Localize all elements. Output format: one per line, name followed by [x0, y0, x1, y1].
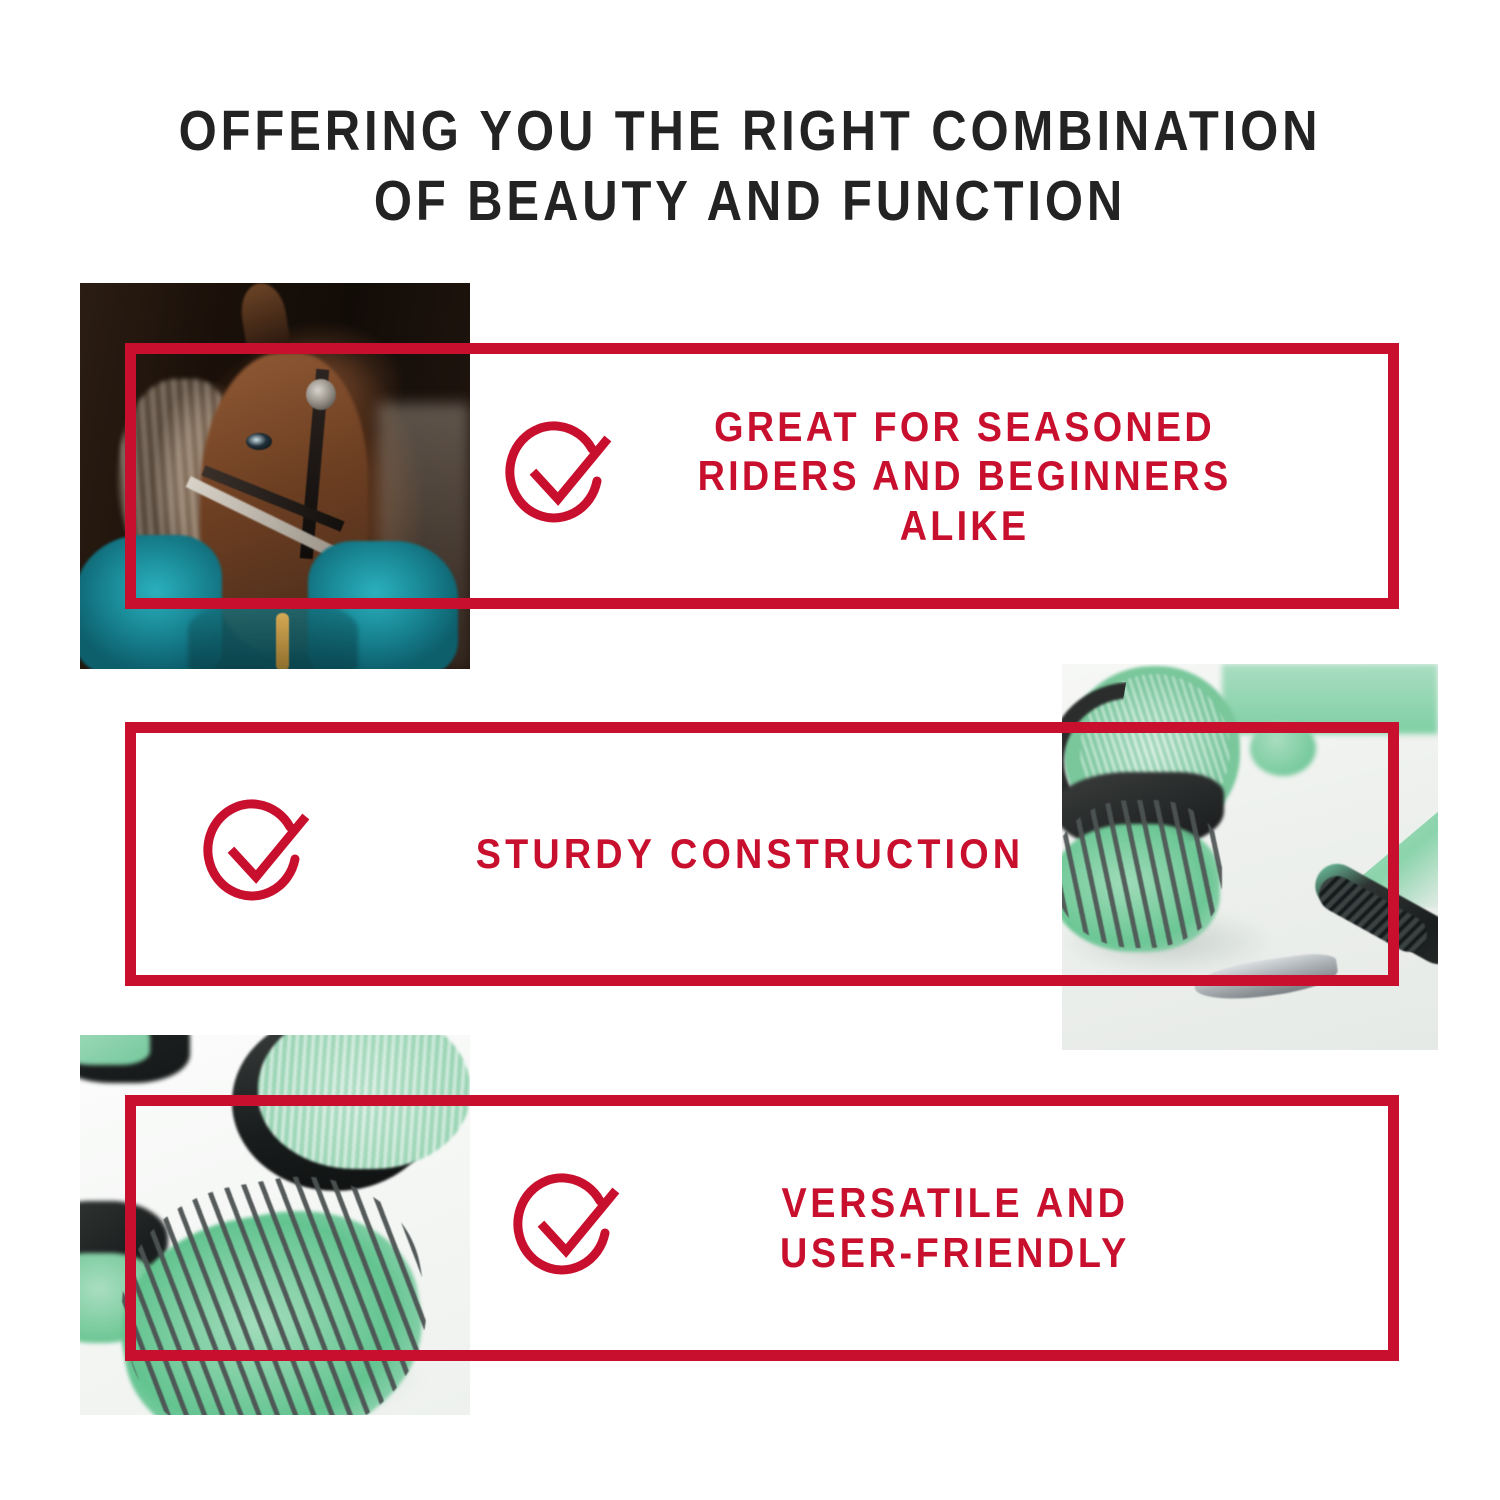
- horse-ear: [237, 283, 291, 352]
- headline-line-2: OF BEAUTY AND FUNCTION: [105, 166, 1395, 236]
- feature-3-text: VERSATILE AND USER-FRIENDLY: [626, 1178, 1380, 1277]
- feature-3-line-1: VERSATILE AND: [659, 1178, 1251, 1228]
- headline-line-1: OFFERING YOU THE RIGHT COMBINATION: [105, 96, 1395, 166]
- feature-row-3: VERSATILE AND USER-FRIENDLY: [490, 1095, 1380, 1361]
- feature-3-line-2: USER-FRIENDLY: [659, 1228, 1251, 1278]
- check-circle-icon: [500, 415, 618, 538]
- feature-2-text: STURDY CONSTRUCTION: [316, 829, 1380, 879]
- feature-1-line-2: RIDERS AND BEGINNERS: [653, 451, 1277, 501]
- feature-1-text: GREAT FOR SEASONED RIDERS AND BEGINNERS …: [618, 402, 1385, 551]
- feature-row-1: GREAT FOR SEASONED RIDERS AND BEGINNERS …: [480, 343, 1385, 609]
- feature-2-line-1: STURDY CONSTRUCTION: [359, 829, 1140, 879]
- check-circle-icon: [508, 1167, 626, 1290]
- feature-1-line-1: GREAT FOR SEASONED: [653, 402, 1277, 452]
- feature-row-2: STURDY CONSTRUCTION: [180, 722, 1380, 986]
- check-circle-icon: [198, 793, 316, 916]
- infographic-page: OFFERING YOU THE RIGHT COMBINATION OF BE…: [0, 0, 1500, 1500]
- handler-jacket-body: [188, 601, 358, 669]
- page-headline: OFFERING YOU THE RIGHT COMBINATION OF BE…: [105, 96, 1395, 236]
- upper-left-brush-green: [80, 1035, 150, 1065]
- feature-1-line-3: ALIKE: [653, 501, 1277, 551]
- lead-rope-clip: [276, 613, 289, 669]
